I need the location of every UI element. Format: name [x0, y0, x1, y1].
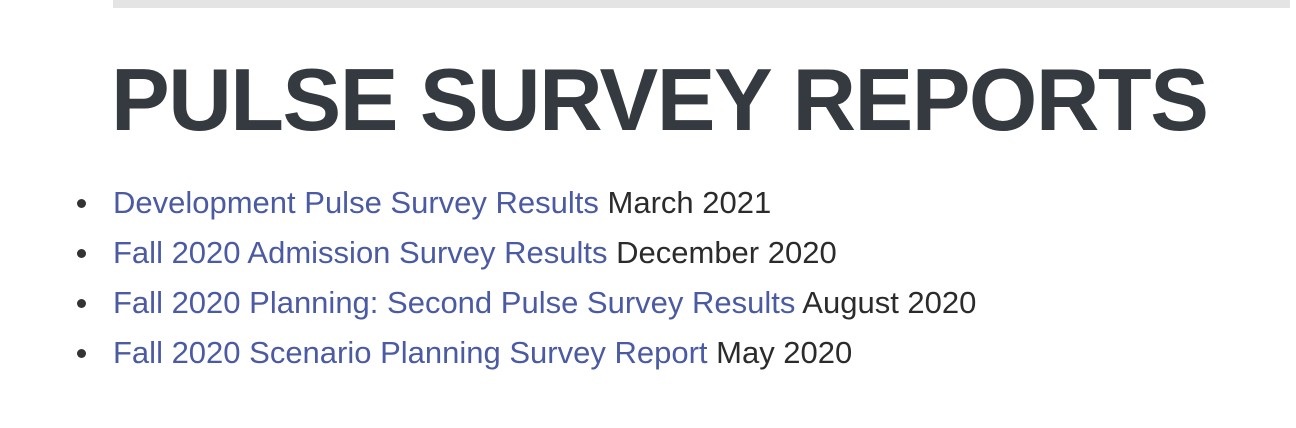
- bullet-icon: [77, 299, 86, 308]
- list-item: Fall 2020 Scenario Planning Survey Repor…: [0, 328, 976, 378]
- report-date: December 2020: [616, 235, 837, 270]
- list-item: Fall 2020 Admission Survey Results Decem…: [0, 228, 976, 278]
- report-link[interactable]: Fall 2020 Scenario Planning Survey Repor…: [113, 335, 716, 370]
- top-decorative-strip: [113, 0, 1290, 8]
- bullet-icon: [77, 249, 86, 258]
- bullet-icon: [77, 199, 86, 208]
- list-item: Fall 2020 Planning: Second Pulse Survey …: [0, 278, 976, 328]
- page-title: PULSE SURVEY REPORTS: [111, 56, 1207, 144]
- report-link[interactable]: Fall 2020 Planning: Second Pulse Survey …: [113, 285, 795, 320]
- report-link[interactable]: Development Pulse Survey Results: [113, 185, 599, 220]
- report-link[interactable]: Fall 2020 Admission Survey Results: [113, 235, 616, 270]
- report-date: May 2020: [716, 335, 852, 370]
- report-date: August 2020: [795, 285, 976, 320]
- page-content: PULSE SURVEY REPORTS Development Pulse S…: [0, 8, 1296, 428]
- report-date: March 2021: [599, 185, 771, 220]
- pulse-survey-report-list: Development Pulse Survey Results March 2…: [0, 178, 976, 378]
- list-item: Development Pulse Survey Results March 2…: [0, 178, 976, 228]
- bullet-icon: [77, 349, 86, 358]
